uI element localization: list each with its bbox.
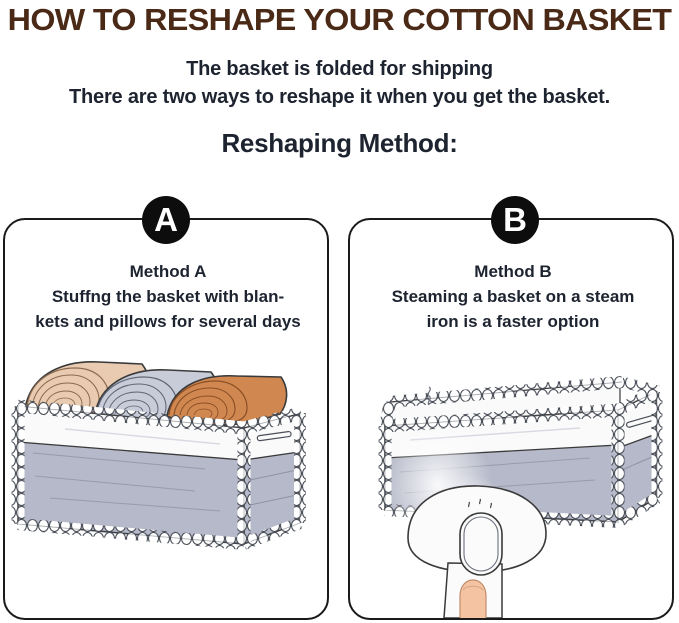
- thumb: [460, 580, 486, 618]
- method-b-description-line-2: iron is a faster option: [358, 310, 668, 334]
- method-b-badge: B: [491, 196, 539, 244]
- method-b-title: Method B: [358, 260, 668, 284]
- method-a-title: Method A: [13, 260, 323, 284]
- subtitle-line-1: The basket is folded for shipping: [0, 55, 679, 83]
- steam-iron: [408, 486, 546, 618]
- subtitle-block: The basket is folded for shipping There …: [0, 55, 679, 111]
- section-heading: Reshaping Method:: [0, 128, 679, 159]
- methods-container: Method A Stuffng the basket with blan- k…: [0, 218, 679, 623]
- method-a-badge: A: [142, 196, 190, 244]
- page-title: HOW TO RESHAPE YOUR COTTON BASKET: [0, 2, 679, 38]
- subtitle-line-2: There are two ways to reshape it when yo…: [0, 83, 679, 111]
- method-b-description-line-1: Steaming a basket on a steam: [358, 285, 668, 309]
- basket-with-blankets-illustration: [5, 350, 327, 618]
- method-card-b[interactable]: Method B Steaming a basket on a steam ir…: [348, 218, 674, 620]
- method-card-a[interactable]: Method A Stuffng the basket with blan- k…: [3, 218, 329, 620]
- method-a-description-line-1: Stuffng the basket with blan-: [13, 285, 323, 309]
- basket-with-steamer-illustration: [350, 350, 672, 618]
- infographic-header: HOW TO RESHAPE YOUR COTTON BASKET The ba…: [0, 0, 679, 159]
- method-b-text-block: Method B Steaming a basket on a steam ir…: [358, 260, 668, 334]
- method-a-description-line-2: kets and pillows for several days: [13, 310, 323, 334]
- method-a-text-block: Method A Stuffng the basket with blan- k…: [13, 260, 323, 334]
